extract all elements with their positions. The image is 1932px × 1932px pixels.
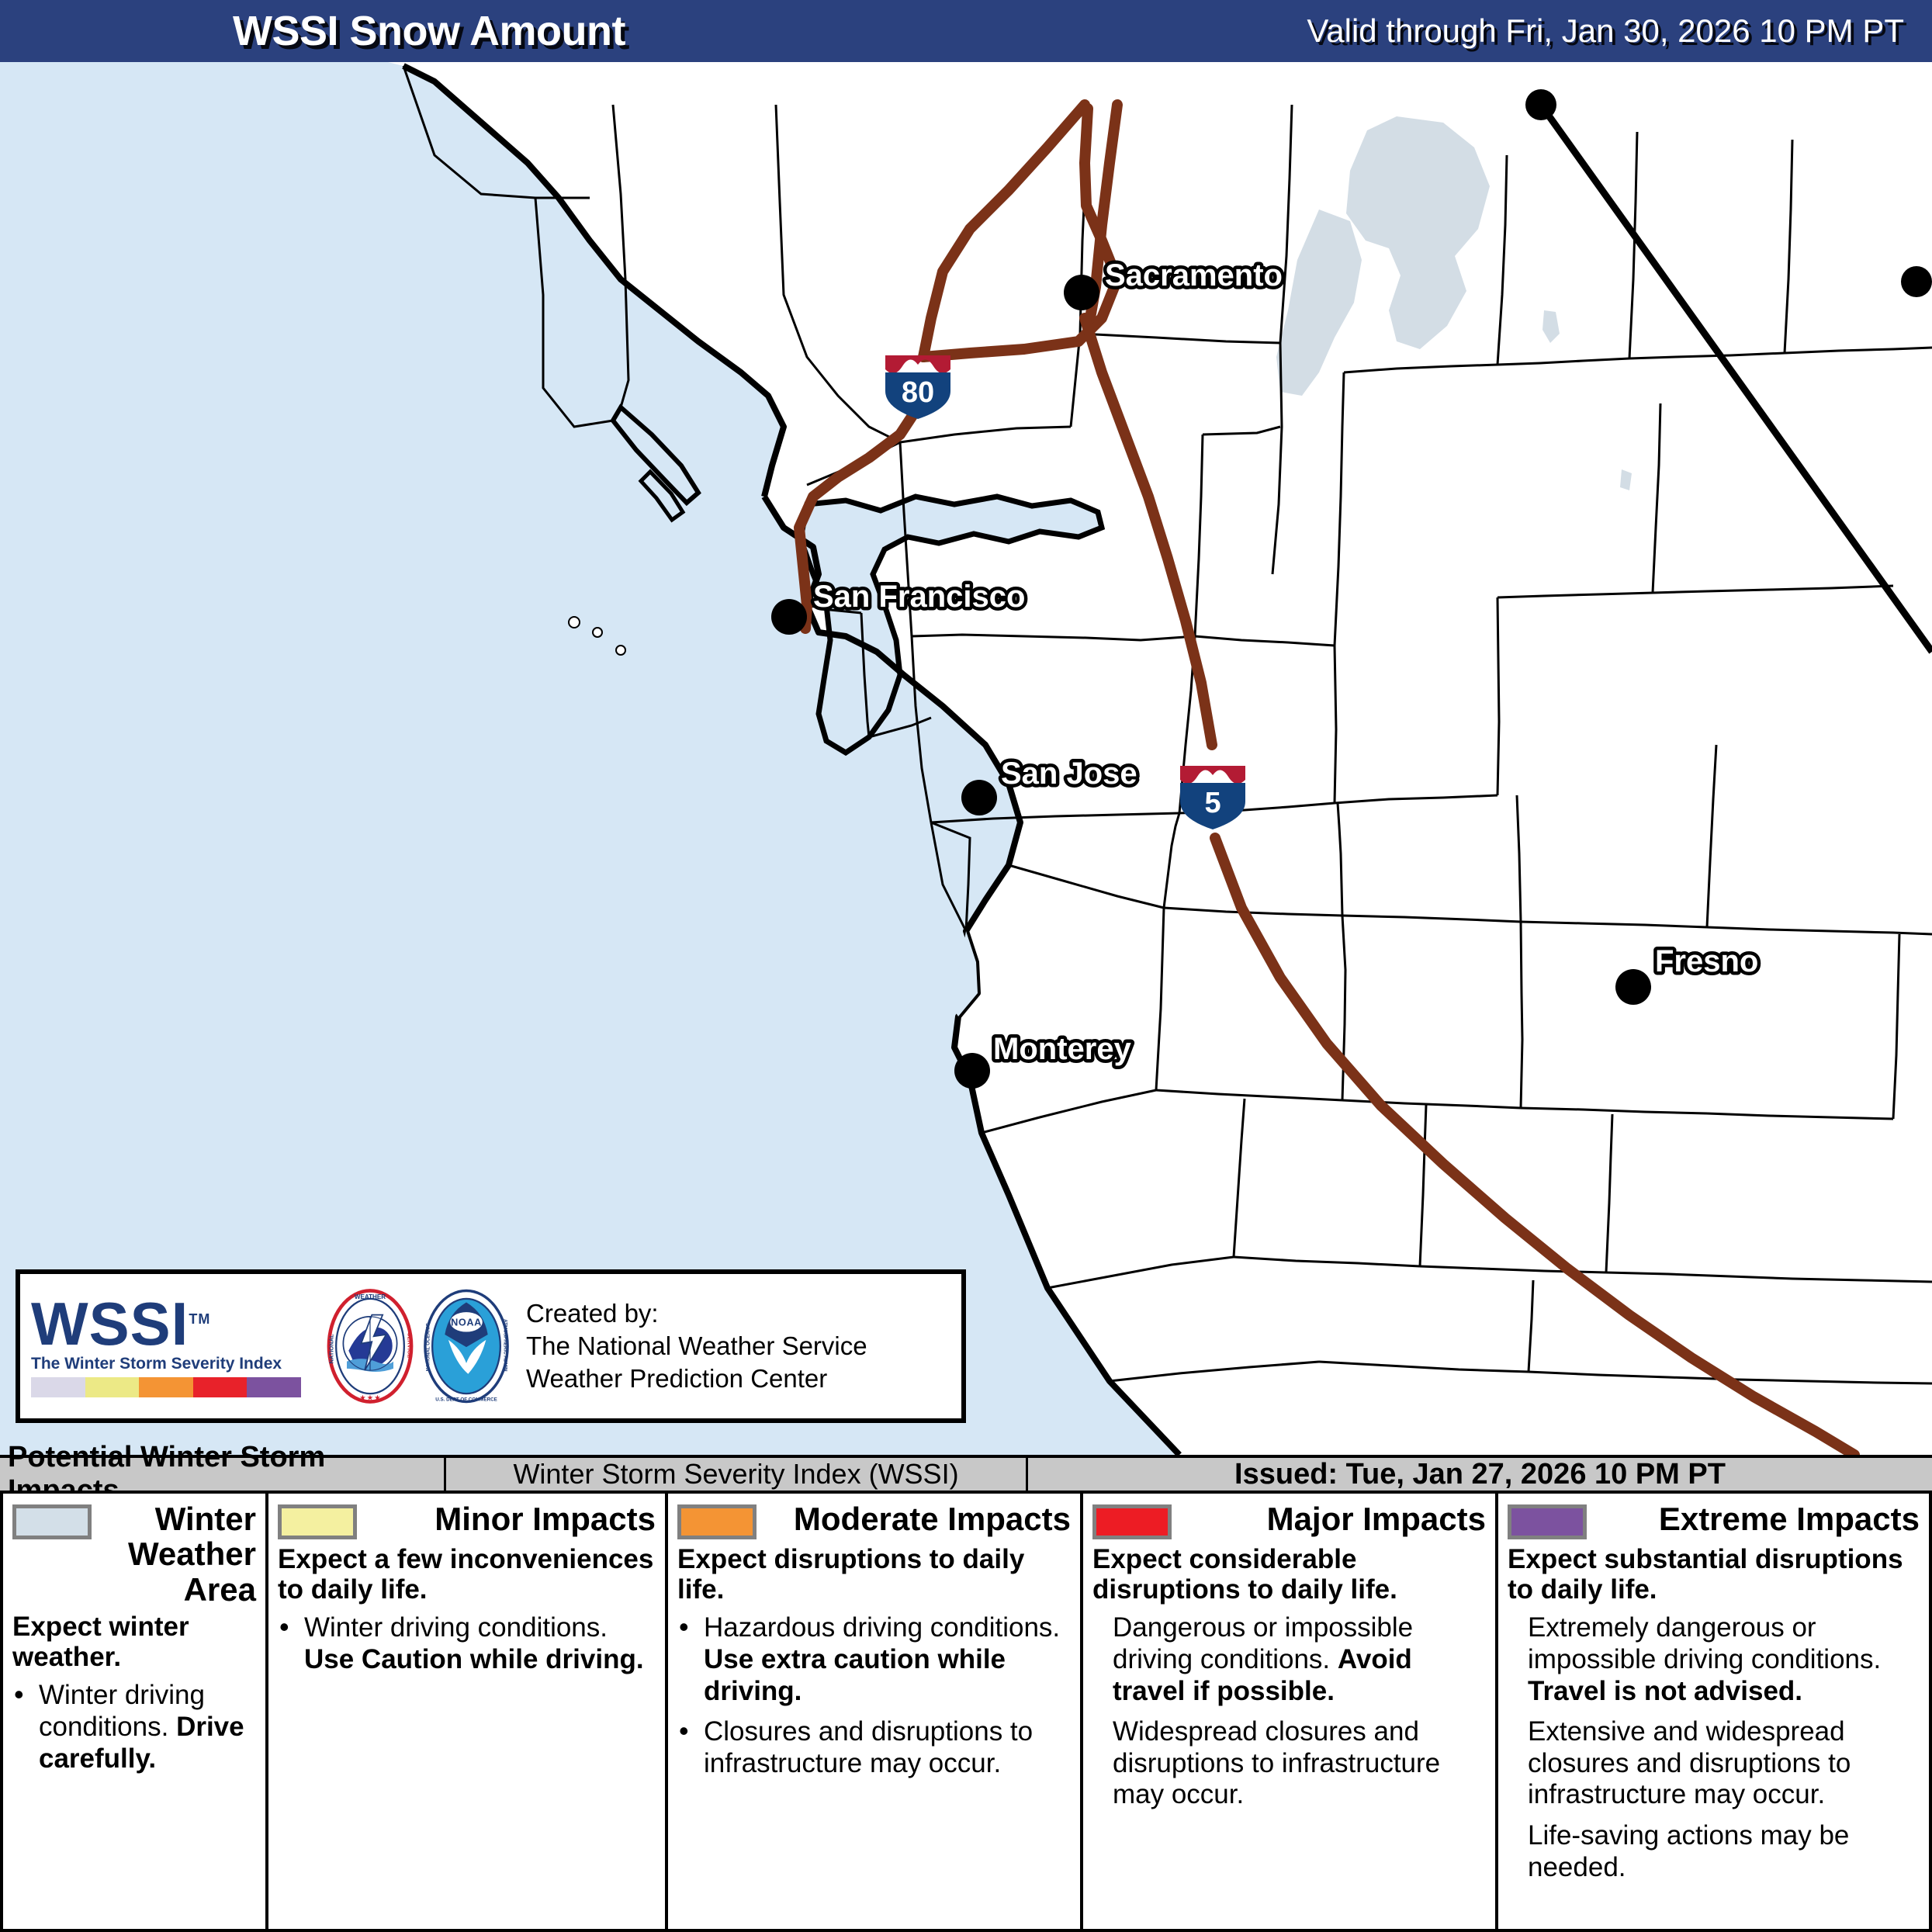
page-header: WSSI Snow Amount Valid through Fri, Jan … [0, 0, 1932, 62]
svg-text:NOAA: NOAA [451, 1317, 482, 1328]
legend-item-text: Extensive and widespread closures and di… [1528, 1716, 1851, 1809]
legend-body-minor-impacts: Winter driving conditions. Use Caution w… [278, 1612, 656, 1675]
legend-body-extreme-impacts: Extremely dangerous or impossible drivin… [1508, 1612, 1920, 1883]
city-label-san-jose: San Jose [1001, 757, 1137, 791]
legend-swatch-winter-weather-area [12, 1504, 92, 1539]
map-canvas[interactable]: Sacramento San Francisco San Jose Fresno… [0, 62, 1932, 1455]
created-by-credit: Created by: The National Weather Service… [526, 1297, 867, 1396]
impact-bar: Potential Winter Storm Impacts Winter St… [0, 1455, 1932, 1494]
legend-title-minor-impacts: Minor Impacts [366, 1501, 656, 1536]
legend-header: Moderate Impacts [677, 1501, 1071, 1539]
legend-lead-moderate-impacts: Expect disruptions to daily life. [677, 1544, 1071, 1605]
legend-header: Winter Weather Area [12, 1501, 256, 1607]
legend-lead-major-impacts: Expect considerable disruptions to daily… [1092, 1544, 1486, 1605]
trademark-mark: TM [189, 1311, 210, 1327]
legend-header: Minor Impacts [278, 1501, 656, 1539]
legend-column-extreme-impacts[interactable]: Extreme Impacts Expect substantial disru… [1498, 1494, 1929, 1929]
legend-item: Widespread closures and disruptions to i… [1092, 1716, 1486, 1811]
wssi-brand: WSSITM The Winter Storm Severity Index [31, 1295, 310, 1397]
wssi-snow-amount-map-page: WSSI Snow Amount Valid through Fri, Jan … [0, 0, 1932, 1932]
legend-item-text: Hazardous driving conditions. [704, 1612, 1060, 1643]
city-label-fresno: Fresno [1655, 944, 1758, 978]
legend-item: Extremely dangerous or impossible drivin… [1508, 1612, 1920, 1707]
legend-item: Winter driving conditions. Use Caution w… [278, 1612, 656, 1675]
offshore-island [569, 617, 580, 628]
city-label-monterey: Monterey [993, 1032, 1132, 1066]
strip-moderate [139, 1377, 193, 1397]
legend-header: Extreme Impacts [1508, 1501, 1920, 1539]
city-label-sacramento: Sacramento [1105, 258, 1283, 293]
shield-number-5: 5 [1204, 787, 1220, 819]
valid-through-text: Valid through Fri, Jan 30, 2026 10 PM PT [1307, 12, 1904, 50]
legend-swatch-major-impacts [1092, 1504, 1172, 1539]
legend-column-moderate-impacts[interactable]: Moderate Impacts Expect disruptions to d… [668, 1494, 1083, 1929]
city-dot-monterey [954, 1053, 990, 1089]
credit-line-3: Weather Prediction Center [526, 1362, 867, 1395]
legend-body-major-impacts: Dangerous or impossible driving conditio… [1092, 1612, 1486, 1811]
city-dot-sacramento [1064, 275, 1099, 310]
legend-item-emphasis: Use Caution while driving. [304, 1644, 644, 1674]
svg-text:WEATHER: WEATHER [355, 1293, 386, 1300]
city-dot-reno [1525, 89, 1556, 120]
legend-item-text: Winter driving conditions. [304, 1612, 608, 1643]
credit-line-2: The National Weather Service [526, 1330, 867, 1362]
strip-minor [85, 1377, 140, 1397]
wssi-color-strip [31, 1377, 301, 1397]
svg-text:NATIONAL OCEANIC: NATIONAL OCEANIC [426, 1323, 431, 1371]
city-dot-edge [1901, 266, 1932, 297]
legend-body-moderate-impacts: Hazardous driving conditions. Use extra … [677, 1612, 1071, 1779]
impact-bar-issued: Issued: Tue, Jan 27, 2026 10 PM PT [1028, 1458, 1932, 1491]
legend-column-minor-impacts[interactable]: Minor Impacts Expect a few inconvenience… [268, 1494, 668, 1929]
legend-item-emphasis: Use extra caution while driving. [704, 1644, 1006, 1706]
legend-lead-minor-impacts: Expect a few inconveniences to daily lif… [278, 1544, 656, 1605]
city-dot-fresno [1615, 969, 1651, 1005]
legend-title-winter-weather-area: Winter Weather Area [101, 1501, 256, 1607]
offshore-island [593, 628, 602, 637]
svg-text:U.S. DEPT OF COMMERCE: U.S. DEPT OF COMMERCE [435, 1397, 497, 1402]
legend-item: Winter driving conditions. Drive careful… [12, 1680, 256, 1774]
legend-title-extreme-impacts: Extreme Impacts [1596, 1501, 1920, 1536]
legend-swatch-minor-impacts [278, 1504, 357, 1539]
legend-item: Life-saving actions may be needed. [1508, 1820, 1920, 1883]
legend-swatch-moderate-impacts [677, 1504, 757, 1539]
legend-column-winter-weather-area[interactable]: Winter Weather Area Expect winter weathe… [3, 1494, 268, 1929]
legend-item-text: Widespread closures and disruptions to i… [1113, 1716, 1440, 1809]
strip-winter-weather [31, 1377, 85, 1397]
svg-text:SERVICE: SERVICE [406, 1332, 413, 1358]
impact-bar-title: Potential Winter Storm Impacts [0, 1458, 446, 1491]
legend-title-moderate-impacts: Moderate Impacts [766, 1501, 1071, 1536]
legend-swatch-extreme-impacts [1508, 1504, 1587, 1539]
city-dot-san-francisco [771, 599, 807, 635]
noaa-seal-icon: NOAA NATIONAL OCEANIC ATMOSPHERIC ADMIN … [421, 1288, 512, 1404]
legend-item-text: Extremely dangerous or impossible drivin… [1528, 1612, 1881, 1674]
legend-lead-extreme-impacts: Expect substantial disruptions to daily … [1508, 1544, 1920, 1605]
svg-text:ATMOSPHERIC ADMIN: ATMOSPHERIC ADMIN [502, 1319, 507, 1372]
legend-item: Closures and disruptions to infrastructu… [677, 1716, 1071, 1779]
shield-number-80: 80 [902, 376, 934, 409]
legend-lead-winter-weather-area: Expect winter weather. [12, 1612, 256, 1672]
impact-bar-subtitle: Winter Storm Severity Index (WSSI) [446, 1458, 1028, 1491]
page-title: WSSI Snow Amount [233, 7, 625, 55]
legend-item-text: Life-saving actions may be needed. [1528, 1820, 1849, 1882]
strip-extreme [247, 1377, 301, 1397]
legend-item-text: Closures and disruptions to infrastructu… [704, 1716, 1033, 1778]
svg-text:★ ★ ★: ★ ★ ★ [359, 1394, 381, 1401]
legend-title-major-impacts: Major Impacts [1181, 1501, 1486, 1536]
city-dot-san-jose [961, 780, 997, 815]
agency-seals: WEATHER ★ ★ ★ NATIONAL SERVICE NOAA NATI… [324, 1288, 512, 1404]
legend-body-winter-weather-area: Winter driving conditions. Drive careful… [12, 1680, 256, 1774]
legend-header: Major Impacts [1092, 1501, 1486, 1539]
map-svg: Sacramento San Francisco San Jose Fresno… [0, 62, 1932, 1455]
legend-column-major-impacts[interactable]: Major Impacts Expect considerable disrup… [1083, 1494, 1498, 1929]
legend-item: Hazardous driving conditions. Use extra … [677, 1612, 1071, 1707]
strip-major [193, 1377, 248, 1397]
wssi-wordmark: WSSITM [31, 1295, 310, 1352]
wssi-logo-box: WSSITM The Winter Storm Severity Index [16, 1269, 966, 1423]
nws-seal-icon: WEATHER ★ ★ ★ NATIONAL SERVICE [324, 1288, 416, 1404]
city-label-san-francisco: San Francisco [813, 580, 1025, 614]
svg-text:NATIONAL: NATIONAL [328, 1334, 335, 1364]
credit-line-1: Created by: [526, 1297, 867, 1330]
impact-legend: Winter Weather Area Expect winter weathe… [0, 1494, 1932, 1932]
legend-item: Extensive and widespread closures and di… [1508, 1716, 1920, 1811]
legend-item: Dangerous or impossible driving conditio… [1092, 1612, 1486, 1707]
offshore-island [616, 646, 625, 655]
legend-item-emphasis: Travel is not advised. [1528, 1676, 1802, 1706]
